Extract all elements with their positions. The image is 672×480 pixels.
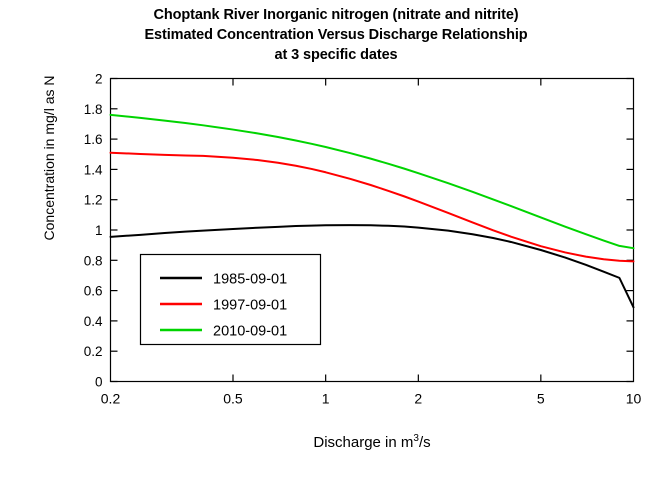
y-tick-label: 1.4 (84, 162, 103, 177)
x-tick-label: 10 (626, 391, 642, 407)
x-tick-label: 1 (322, 391, 330, 407)
y-tick-label: 2 (95, 72, 103, 87)
x-tick-label: 0.2 (101, 391, 121, 407)
y-tick-label: 0.8 (84, 253, 103, 268)
y-tick-label: 0.6 (84, 284, 103, 299)
y-tick-labels: 00.20.40.60.811.21.41.61.82 (84, 72, 103, 390)
y-tick-label: 1.6 (84, 132, 103, 147)
y-tick-label: 1 (95, 223, 103, 238)
legend-label: 1985-09-01 (213, 272, 287, 288)
y-tick-label: 1.2 (84, 193, 103, 208)
y-tick-label: 1.8 (84, 102, 103, 117)
y-tick-label: 0.4 (84, 314, 103, 329)
y-tick-label: 0.2 (84, 344, 103, 359)
x-tick-label: 0.5 (223, 391, 243, 407)
chart-figure: Choptank River Inorganic nitrogen (nitra… (0, 0, 672, 480)
x-tick-labels: 0.20.512510 (101, 391, 642, 407)
plot-canvas: 00.20.40.60.811.21.41.61.82 0.20.512510 … (0, 0, 672, 480)
legend-label: 1997-09-01 (213, 298, 287, 314)
x-tick-label: 5 (537, 391, 545, 407)
legend: 1985-09-011997-09-012010-09-01 (141, 255, 321, 345)
series-line-1997-09-01 (111, 153, 634, 262)
legend-label: 2010-09-01 (213, 324, 287, 340)
x-tick-label: 2 (414, 391, 422, 407)
series-line-2010-09-01 (111, 115, 634, 248)
y-tick-label: 0 (95, 375, 103, 390)
